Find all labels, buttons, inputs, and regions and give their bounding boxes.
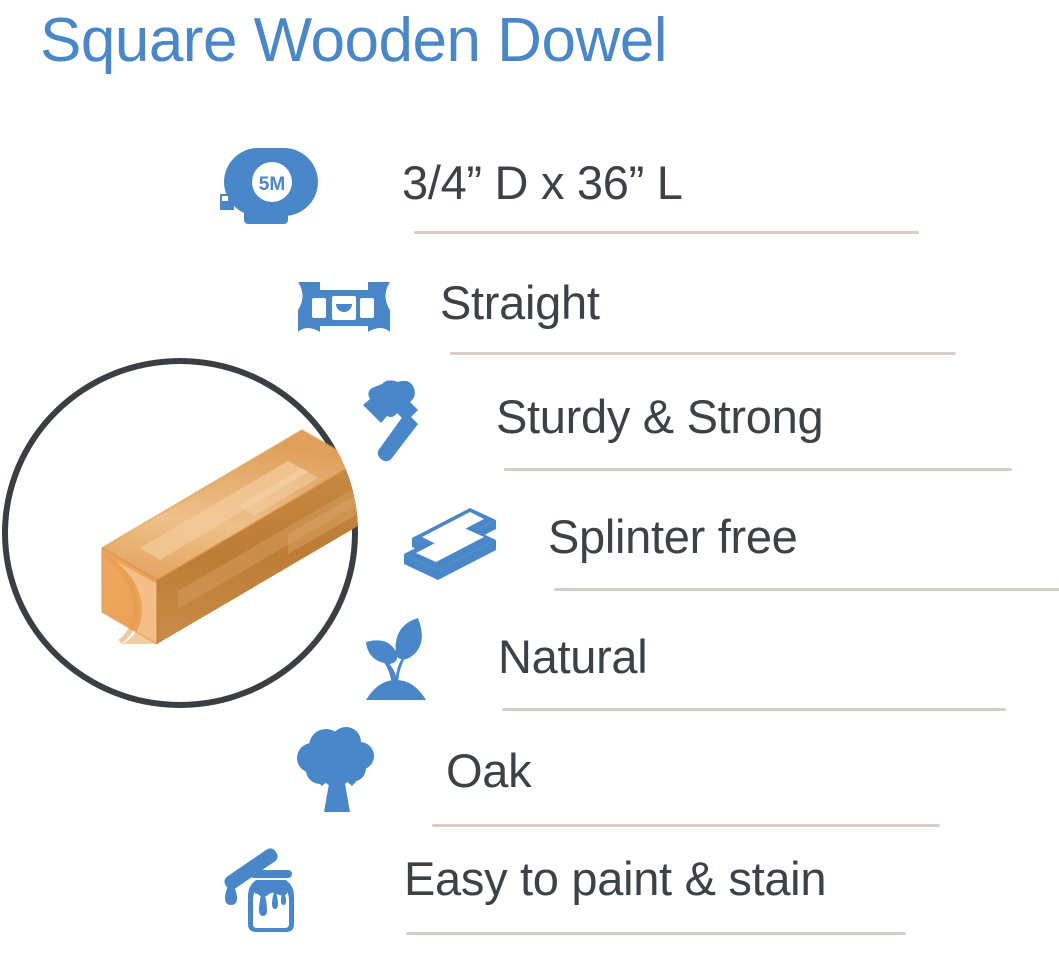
feature-divider: [450, 352, 956, 355]
feature-label-natural: Natural: [498, 628, 647, 686]
feature-divider: [406, 932, 906, 935]
feature-label-oak: Oak: [446, 742, 531, 800]
feature-label-splinter: Splinter free: [548, 508, 798, 566]
hammer-icon: [348, 376, 452, 472]
feature-divider: [414, 231, 919, 234]
feature-divider: [502, 708, 1006, 711]
sprout-leaf-icon: [344, 614, 448, 710]
wood-planks-icon: [398, 498, 502, 594]
spirit-level-icon: [292, 266, 396, 362]
feature-divider: [504, 468, 1012, 471]
feature-divider: [554, 588, 1059, 591]
feature-label-sturdy: Sturdy & Strong: [496, 388, 823, 446]
feature-list: 5M 3/4” D x 36” L Straight: [0, 0, 1059, 941]
paint-brush-can-icon: [216, 842, 320, 938]
feature-label-paint: Easy to paint & stain: [404, 850, 826, 908]
feature-divider: [432, 824, 940, 827]
tape-measure-icon: 5M: [214, 142, 318, 238]
tape-measure-value: 5M: [259, 174, 285, 195]
feature-label-dimensions: 3/4” D x 36” L: [402, 154, 683, 212]
tree-icon: [286, 724, 390, 820]
feature-label-straight: Straight: [440, 274, 600, 332]
